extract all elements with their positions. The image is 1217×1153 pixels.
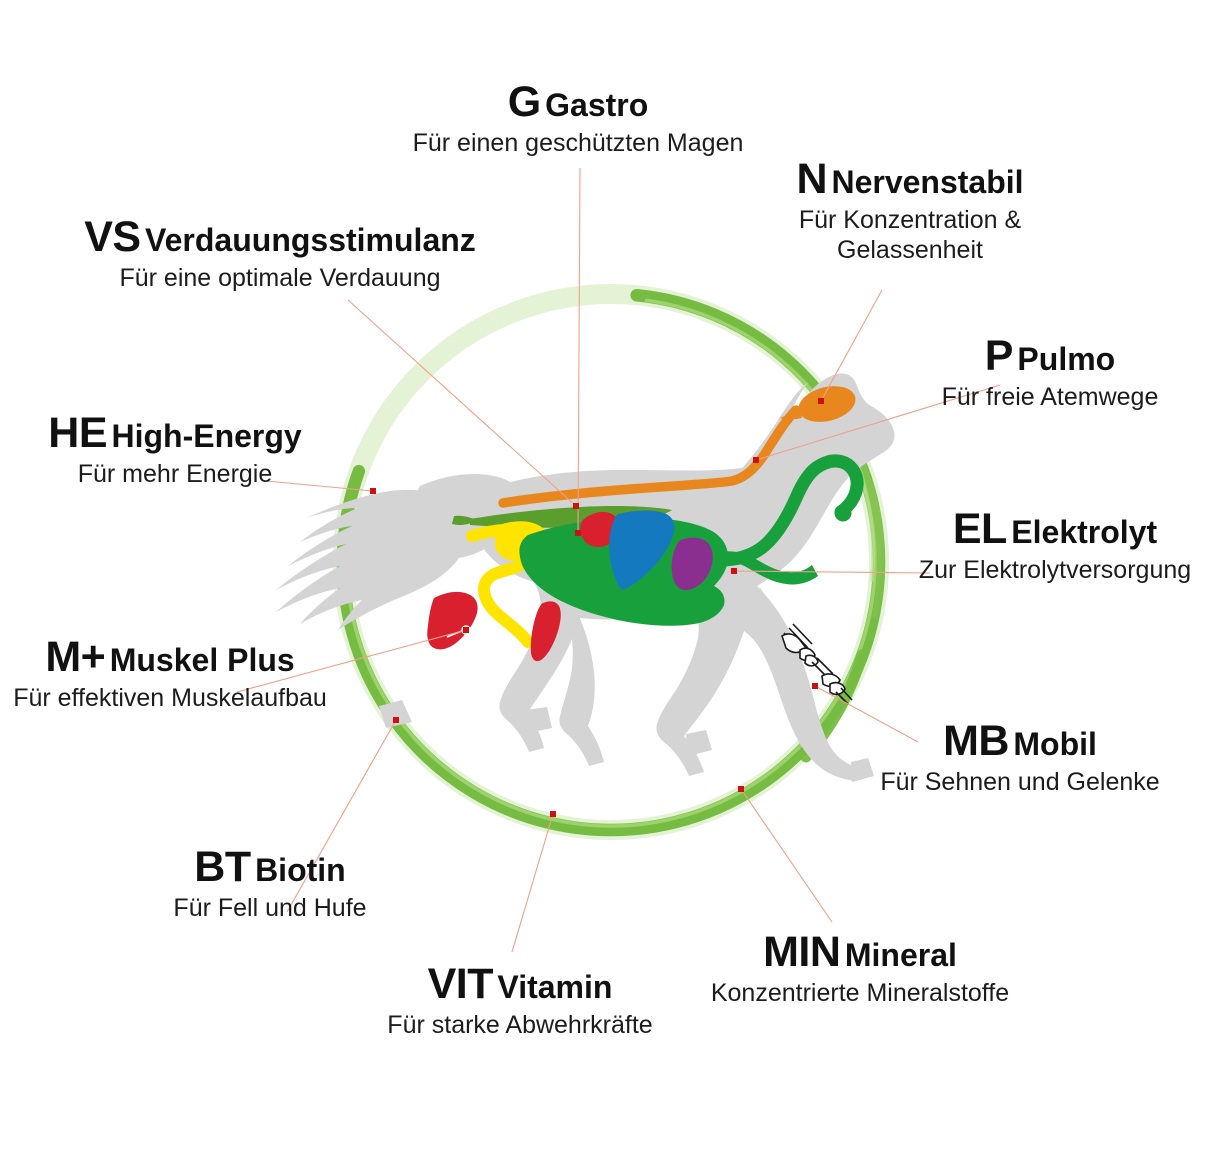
label-muskel-plus-name: Muskel Plus (110, 642, 295, 678)
label-mobil-name: Mobil (1013, 726, 1097, 762)
label-verdauungsstimulanz-sub: Für eine optimale Verdauung (30, 264, 530, 294)
label-elektrolyt[interactable]: EL Elektrolyt Zur Elektrolytversorgung (900, 505, 1210, 586)
label-mobil-sub: Für Sehnen und Gelenke (870, 768, 1170, 798)
label-high-energy-name: High-Energy (111, 418, 301, 454)
label-pulmo-name: Pulmo (1017, 341, 1115, 377)
label-verdauungsstimulanz-name: Verdauungsstimulanz (145, 222, 476, 258)
label-mineral-name: Mineral (845, 937, 957, 973)
label-nervenstabil-abbr: N (796, 155, 827, 203)
label-elektrolyt-sub: Zur Elektrolytversorgung (900, 556, 1210, 586)
label-muskel-plus-sub: Für effektiven Muskelaufbau (5, 684, 335, 714)
marker-dot-mobil (812, 683, 818, 689)
label-elektrolyt-head: EL Elektrolyt (900, 505, 1210, 553)
label-pulmo-abbr: P (985, 332, 1013, 380)
label-mineral-abbr: MIN (763, 928, 840, 976)
label-gastro-name: Gastro (545, 87, 648, 123)
marker-dot-muskelplus (463, 627, 469, 633)
airway-end-node (835, 505, 852, 522)
marker-dot-elektrolyt (731, 568, 737, 574)
label-gastro-head: G Gastro (378, 78, 778, 126)
label-biotin-sub: Für Fell und Hufe (140, 894, 400, 924)
label-high-energy[interactable]: HE High-Energy Für mehr Energie (10, 409, 340, 490)
label-mineral[interactable]: MIN Mineral Konzentrierte Mineralstoffe (690, 928, 1030, 1009)
label-biotin-abbr: BT (194, 843, 250, 891)
label-high-energy-sub: Für mehr Energie (10, 460, 340, 490)
label-high-energy-abbr: HE (48, 409, 107, 457)
label-mineral-sub: Konzentrierte Mineralstoffe (690, 979, 1030, 1009)
label-vitamin-sub: Für starke Abwehrkräfte (355, 1011, 685, 1041)
marker-dot-vitamin (550, 811, 556, 817)
marker-dot-nervenstabil (818, 398, 824, 404)
label-mobil-abbr: MB (943, 717, 1009, 765)
marker-dot-pulmo (753, 457, 759, 463)
leader-line-vitamin (512, 814, 553, 952)
marker-dot-biotin (393, 717, 399, 723)
hindquarter-muscle (427, 592, 477, 649)
label-muskel-plus-abbr: M+ (45, 633, 105, 681)
label-vitamin-name: Vitamin (497, 969, 612, 1005)
label-vitamin[interactable]: VIT Vitamin Für starke Abwehrkräfte (355, 960, 685, 1041)
label-nervenstabil-sub-line2: Gelassenheit (740, 236, 1080, 266)
label-vitamin-abbr: VIT (428, 960, 493, 1008)
label-high-energy-head: HE High-Energy (10, 409, 340, 457)
label-nervenstabil-head: N Nervenstabil (740, 155, 1080, 203)
label-nervenstabil-name: Nervenstabil (831, 164, 1023, 200)
label-biotin-head: BT Biotin (140, 843, 400, 891)
marker-dot-gastro (575, 530, 581, 536)
infographic-canvas: G Gastro Für einen geschützten Magen N N… (0, 0, 1217, 1153)
label-elektrolyt-name: Elektrolyt (1011, 514, 1157, 550)
marker-dot-verdauungsstimulanz (573, 503, 579, 509)
label-nervenstabil[interactable]: N Nervenstabil Für Konzentration & Gelas… (740, 155, 1080, 265)
label-muskel-plus[interactable]: M+ Muskel Plus Für effektiven Muskelaufb… (5, 633, 335, 714)
label-biotin-name: Biotin (255, 852, 346, 888)
marker-dot-highenergy (370, 488, 376, 494)
label-gastro-abbr: G (508, 78, 541, 126)
label-pulmo-head: P Pulmo (900, 332, 1200, 380)
label-pulmo[interactable]: P Pulmo Für freie Atemwege (900, 332, 1200, 413)
label-verdauungsstimulanz-head: VS Verdauungsstimulanz (30, 213, 530, 261)
label-mineral-head: MIN Mineral (690, 928, 1030, 976)
leader-line-mineral (741, 789, 832, 922)
label-mobil[interactable]: MB Mobil Für Sehnen und Gelenke (870, 717, 1170, 798)
label-mobil-head: MB Mobil (870, 717, 1170, 765)
label-muskel-plus-head: M+ Muskel Plus (5, 633, 335, 681)
label-verdauungsstimulanz[interactable]: VS Verdauungsstimulanz Für eine optimale… (30, 213, 530, 294)
label-vitamin-head: VIT Vitamin (355, 960, 685, 1008)
label-gastro-sub: Für einen geschützten Magen (378, 129, 778, 159)
label-nervenstabil-sub-line1: Für Konzentration & (740, 206, 1080, 236)
label-elektrolyt-abbr: EL (953, 505, 1007, 553)
label-verdauungsstimulanz-abbr: VS (84, 213, 140, 261)
label-biotin[interactable]: BT Biotin Für Fell und Hufe (140, 843, 400, 924)
label-pulmo-sub: Für freie Atemwege (900, 383, 1200, 413)
marker-dot-mineral (738, 786, 744, 792)
label-gastro[interactable]: G Gastro Für einen geschützten Magen (378, 78, 778, 159)
